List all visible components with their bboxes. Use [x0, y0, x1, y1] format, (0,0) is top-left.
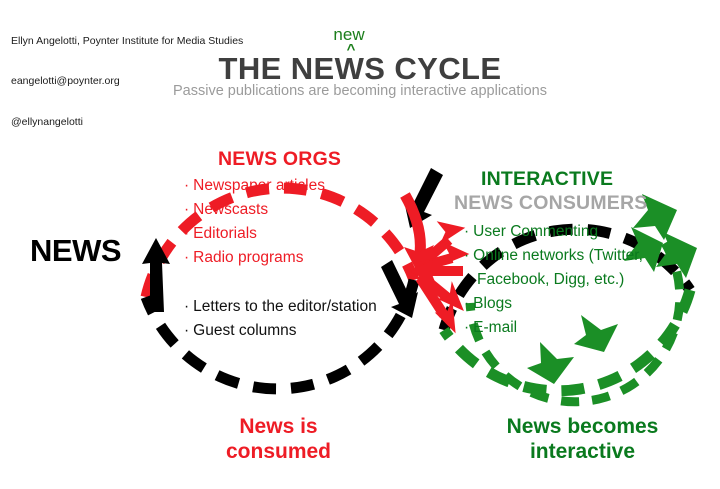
list-item-label: Newscasts — [193, 201, 268, 218]
bullet-icon: · — [464, 319, 469, 336]
list-item-label: Radio programs — [193, 249, 303, 266]
list-item-label: Guest columns — [193, 322, 296, 339]
caption-line-1: News is — [196, 414, 361, 439]
diagram-canvas: Ellyn Angelotti, Poynter Institute for M… — [0, 0, 720, 489]
byline-handle: @ellynangelotti — [11, 116, 243, 129]
bullet-icon: · — [184, 177, 189, 194]
list-item-label: E-mail — [473, 319, 517, 336]
list-item: ·Newspaper articles — [184, 174, 325, 198]
news-consumers-list: ·User Commenting ·Online networks (Twitt… — [464, 220, 643, 340]
title-insertion-mark: new ^ — [326, 26, 372, 56]
list-item: ·Newscasts — [184, 198, 325, 222]
list-item-continuation: Facebook, Digg, etc.) — [477, 268, 643, 292]
list-item: ·Radio programs — [184, 246, 325, 270]
list-item-label: Blogs — [473, 295, 512, 312]
bullet-icon: · — [464, 223, 469, 240]
list-item-label: Newspaper articles — [193, 177, 325, 194]
page-title: THE NEWS CYCLE — [0, 53, 720, 84]
bullet-icon: · — [184, 225, 189, 242]
caption-line-2: interactive — [470, 439, 695, 464]
caption-news-is-consumed: News is consumed — [196, 414, 361, 464]
list-item-label: Editorials — [193, 225, 257, 242]
page-subtitle: Passive publications are becoming intera… — [0, 83, 720, 99]
list-item: ·E-mail — [464, 316, 643, 340]
caption-news-becomes-interactive: News becomes interactive — [470, 414, 695, 464]
caret-insert-icon: ^ — [330, 44, 372, 56]
news-orgs-black-list: ·Letters to the editor/station ·Guest co… — [184, 295, 377, 343]
news-orgs-heading: NEWS ORGS — [218, 150, 341, 170]
interactive-heading: INTERACTIVE — [481, 170, 613, 190]
bullet-icon: · — [464, 247, 469, 264]
bullet-icon: · — [184, 249, 189, 266]
list-item: ·Editorials — [184, 222, 325, 246]
caption-line-2: consumed — [196, 439, 361, 464]
news-orgs-red-list: ·Newspaper articles ·Newscasts ·Editoria… — [184, 174, 325, 270]
bullet-icon: · — [184, 298, 189, 315]
bullet-icon: · — [464, 295, 469, 312]
title-block: new ^ THE NEWS CYCLE — [0, 26, 720, 84]
caption-line-1: News becomes — [470, 414, 695, 439]
list-item-label: Letters to the editor/station — [193, 298, 377, 315]
list-item: ·User Commenting — [464, 220, 643, 244]
green-arrowhead-outer-bottom — [527, 342, 574, 384]
list-item-label: User Commenting — [473, 223, 598, 240]
news-input-label: NEWS — [30, 235, 121, 266]
bullet-icon: · — [184, 201, 189, 218]
list-item: ·Blogs — [464, 292, 643, 316]
list-item-label: Online networks (Twitter, — [473, 247, 643, 264]
news-consumers-heading: NEWS CONSUMERS — [454, 194, 647, 214]
list-item: ·Online networks (Twitter, — [464, 244, 643, 268]
bullet-icon: · — [184, 322, 189, 339]
list-item: ·Guest columns — [184, 319, 377, 343]
list-item: ·Letters to the editor/station — [184, 295, 377, 319]
